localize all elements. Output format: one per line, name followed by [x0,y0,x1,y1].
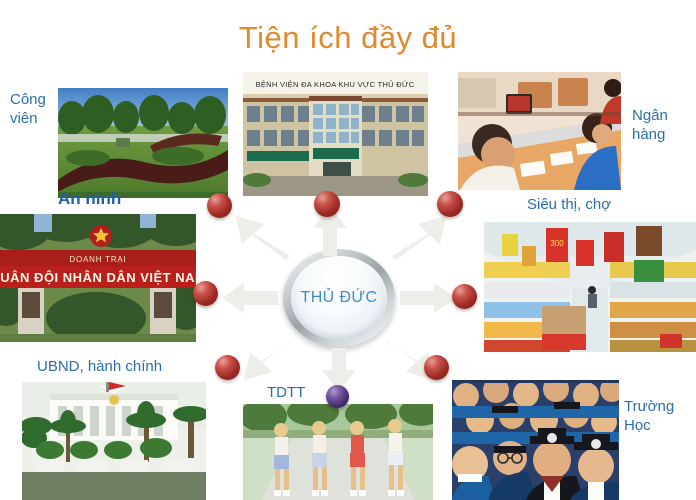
slide-canvas: Tiện ích đầy đủ [0,0,696,500]
school-photo [452,380,619,500]
node-park[interactable] [207,193,232,218]
arrow-to-market [400,283,456,313]
label-park: Công viên [10,90,58,128]
page-title: Tiện ích đầy đủ [0,20,696,56]
center-label: THỦ ĐỨC [283,249,395,347]
node-school[interactable] [424,355,449,380]
center-hub: THỦ ĐỨC [283,249,395,347]
label-market: Siêu thị, chợ [527,195,611,214]
node-market[interactable] [452,284,477,309]
barracks-photo: DOANH TRẠI QUÂN ĐỘI NHÂN DÂN VIỆT NAM [0,214,196,342]
label-bank: Ngân hàng [632,106,692,144]
government-photo [22,382,206,500]
hospital-caption: BỆNH VIỆN ĐA KHOA KHU VỰC THỦ ĐỨC [256,80,415,89]
supermarket-photo: 300 [484,222,696,352]
arrow-to-government [236,338,296,384]
arrow-to-park [224,212,290,260]
arrow-to-security [222,283,278,313]
bank-photo [458,72,621,190]
label-sports: TDTT [267,383,305,402]
park-photo [58,88,228,198]
barracks-caption-line1: DOANH TRẠI [69,255,126,264]
node-sports[interactable] [326,385,349,408]
node-bank[interactable] [437,191,463,217]
svg-text:300: 300 [550,239,564,248]
node-security[interactable] [193,281,218,306]
node-government[interactable] [215,355,240,380]
node-hospital[interactable] [314,191,340,217]
sports-photo [243,404,433,500]
label-security: An ninh [58,189,121,208]
barracks-caption-line2: QUÂN ĐỘI NHÂN DÂN VIỆT NAM [0,270,196,285]
label-government: UBND, hành chính [37,357,162,376]
hospital-photo: BỆNH VIỆN ĐA KHOA KHU VỰC THỦ ĐỨC [243,72,428,196]
label-school: Trường Học [624,397,690,435]
arrow-to-bank [392,212,458,260]
